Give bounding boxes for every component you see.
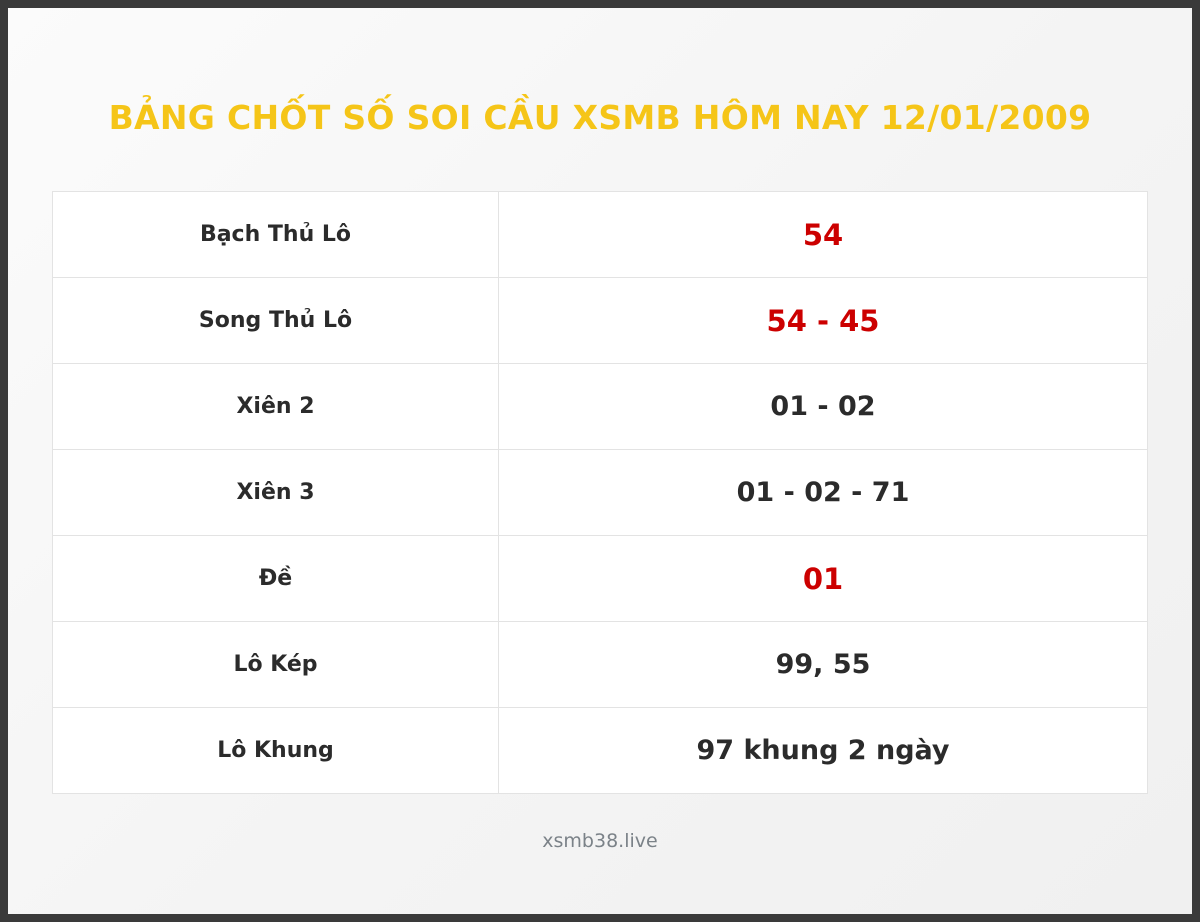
row-label: Đề (53, 536, 499, 621)
row-label: Song Thủ Lô (53, 278, 499, 363)
row-value: 97 khung 2 ngày (499, 708, 1147, 793)
row-value: 01 - 02 (499, 364, 1147, 449)
page-title: BẢNG CHỐT SỐ SOI CẦU XSMB HÔM NAY 12/01/… (8, 8, 1192, 136)
row-label: Xiên 3 (53, 450, 499, 535)
table-row: Lô Kép 99, 55 (53, 622, 1147, 708)
row-value: 99, 55 (499, 622, 1147, 707)
row-value: 01 - 02 - 71 (499, 450, 1147, 535)
table-row: Lô Khung 97 khung 2 ngày (53, 708, 1147, 794)
row-label: Bạch Thủ Lô (53, 192, 499, 277)
table-row: Xiên 3 01 - 02 - 71 (53, 450, 1147, 536)
row-value: 54 - 45 (499, 278, 1147, 363)
page-container: BẢNG CHỐT SỐ SOI CẦU XSMB HÔM NAY 12/01/… (8, 8, 1192, 914)
row-label: Lô Khung (53, 708, 499, 793)
row-label: Lô Kép (53, 622, 499, 707)
row-label: Xiên 2 (53, 364, 499, 449)
table-row: Bạch Thủ Lô 54 (53, 192, 1147, 278)
row-value: 54 (499, 192, 1147, 277)
table-row: Xiên 2 01 - 02 (53, 364, 1147, 450)
table-row: Song Thủ Lô 54 - 45 (53, 278, 1147, 364)
row-value: 01 (499, 536, 1147, 621)
table-row: Đề 01 (53, 536, 1147, 622)
site-watermark: xsmb38.live (8, 830, 1192, 852)
prediction-table: Bạch Thủ Lô 54 Song Thủ Lô 54 - 45 Xiên … (52, 191, 1148, 794)
